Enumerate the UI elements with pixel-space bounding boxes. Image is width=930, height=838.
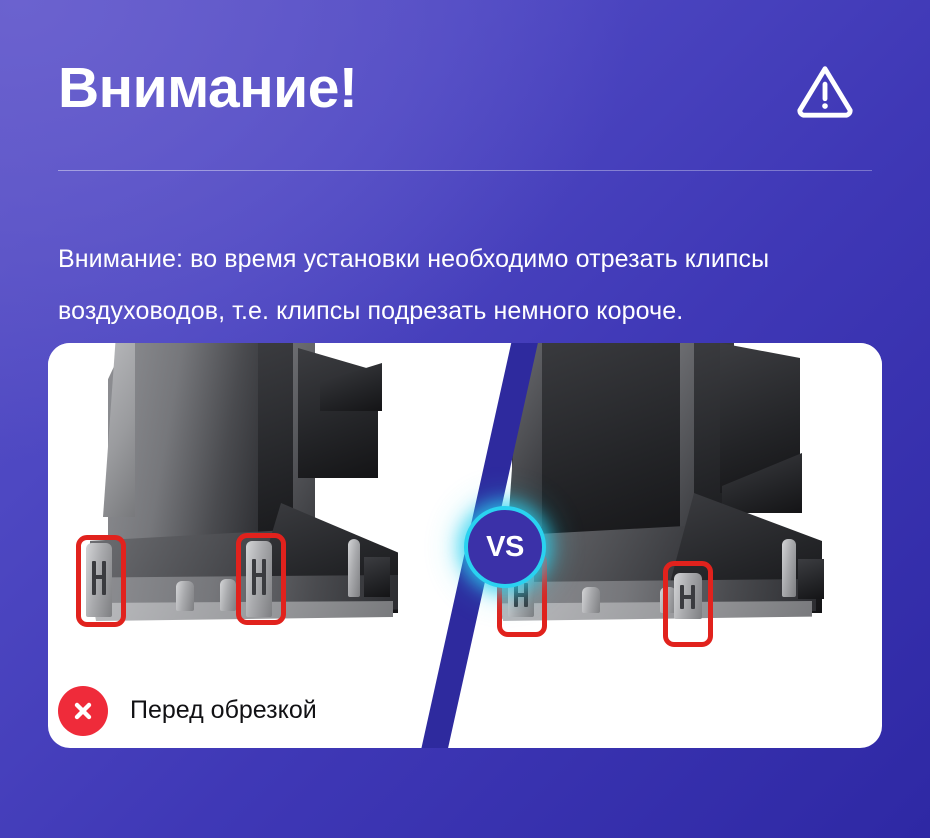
clip-highlight — [663, 561, 713, 647]
comparison-card: Перед обрезкой — [48, 343, 882, 748]
vs-label: VS — [486, 533, 524, 562]
caption-before: Перед обрезкой — [58, 673, 317, 748]
photo-before — [48, 343, 478, 673]
notice-text: Внимание: во время установки необходимо … — [58, 233, 888, 337]
clip-highlight — [76, 535, 126, 627]
warning-banner: Внимание! Внимание: во время установки н… — [0, 0, 930, 838]
title-divider — [58, 170, 872, 171]
caption-before-label: Перед обрезкой — [130, 696, 317, 725]
clip-highlight — [236, 533, 286, 625]
header: Внимание! — [58, 52, 872, 144]
warning-triangle-icon — [794, 60, 856, 122]
vs-badge: VS — [464, 506, 546, 588]
cross-circle-icon — [58, 686, 108, 736]
page-title: Внимание! — [58, 52, 872, 124]
comparison-panel-before: Перед обрезкой — [48, 343, 478, 748]
